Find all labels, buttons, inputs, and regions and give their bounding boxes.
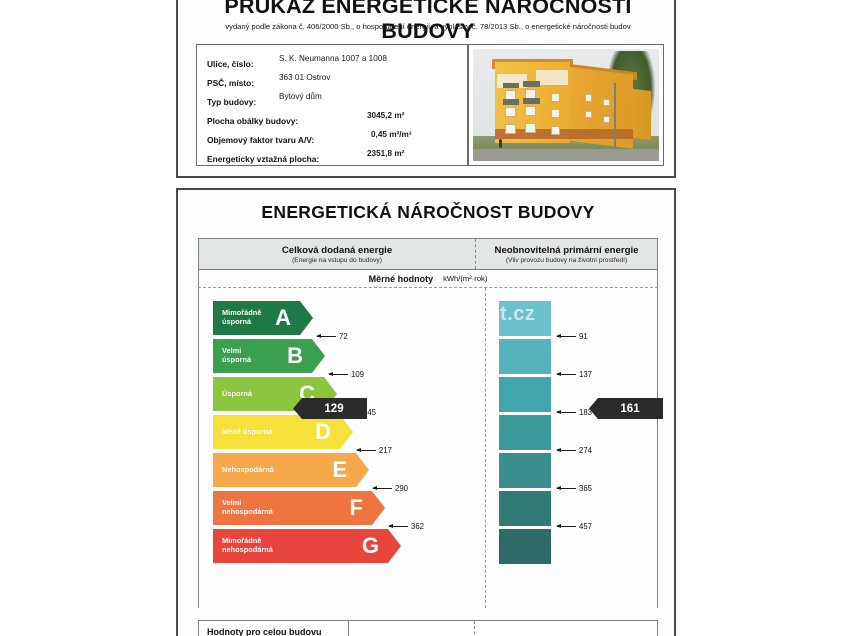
tick-arrow-icon [557, 488, 576, 489]
primary-band-c [499, 377, 551, 412]
photo-window [551, 126, 560, 135]
primary-band-g [499, 529, 551, 564]
photo-window [505, 124, 516, 134]
whole-building-values-primary [475, 621, 657, 636]
photo-window [551, 93, 560, 102]
photo-window [585, 94, 592, 102]
energy-performance-panel: ENERGETICKÁ NÁROČNOST BUDOVY Celková dod… [176, 188, 676, 636]
tick-arrow-icon [317, 336, 336, 337]
units-row: Měrné hodnoty kWh/(m²·rok) [198, 270, 658, 288]
energy-band-label: Velmi nehospodárná [222, 499, 273, 516]
detail-value: S. K. Neumanna 1007 a 1008 [279, 54, 387, 63]
column-header-delivered-energy: Celková dodaná energie (Energie na vstup… [199, 239, 475, 269]
tick-arrow-icon [373, 488, 392, 489]
energy-band-letter: A [275, 307, 291, 329]
tick-arrow-icon [557, 336, 576, 337]
building-details-table: Ulice, číslo: S. K. Neumanna 1007 a 1008… [196, 44, 468, 166]
detail-label: PSČ, místo: [207, 78, 254, 88]
column-header-primary-energy: Neobnovitelná primární energie (Vliv pro… [475, 239, 657, 269]
energy-column-headers: Celková dodaná energie (Energie na vstup… [198, 238, 658, 270]
primary-band-row-a: t.cz 91 [499, 300, 649, 338]
photo-road [473, 149, 659, 161]
photo-balcony [503, 99, 520, 105]
whole-building-values-delivered [349, 621, 475, 636]
units-value: kWh/(m²·rok) [443, 274, 487, 283]
units-label: Měrné hodnoty [369, 274, 434, 284]
photo-balcony [503, 83, 520, 89]
photo-plaster-patch [536, 70, 568, 85]
energy-band-label: Nehospodárná [222, 466, 274, 475]
building-photo [473, 49, 659, 161]
energy-band-label: Mimořádně úsporná [222, 309, 261, 326]
energy-band-letter: F [350, 497, 363, 519]
detail-row-building-type: Typ budovy: Bytový dům [207, 92, 467, 111]
document-page: PRŮKAZ ENERGETICKÉ NÁROČNOSTI BUDOVY vyd… [0, 0, 848, 636]
energy-band-d: Méně úsporná D [213, 415, 353, 449]
photo-window [603, 116, 610, 123]
primary-band-row-d: 274 [499, 414, 649, 452]
detail-label: Plocha obálky budovy: [207, 116, 298, 126]
primary-band-row-e: 365 [499, 452, 649, 490]
energy-band-label: Velmi úsporná [222, 347, 251, 364]
energy-band-row-f: Velmi nehospodárná F 362 [213, 490, 479, 528]
energy-band-a: Mimořádně úsporná A [213, 301, 313, 335]
tick-arrow-icon [557, 526, 576, 527]
detail-label: Energeticky vztažná plocha: [207, 154, 319, 164]
building-photo-frame [468, 44, 664, 166]
detail-value: 0,45 m²/m³ [371, 130, 412, 139]
photo-lamp-post [614, 83, 616, 148]
tick-arrow-icon [329, 374, 348, 375]
detail-value: 3045,2 m² [367, 111, 404, 120]
photo-window [551, 109, 560, 118]
tick-arrow-icon [357, 450, 376, 451]
energy-band-b: Velmi úsporná B [213, 339, 325, 373]
column-header-title: Neobnovitelná primární energie [495, 245, 639, 256]
detail-value: 363 01 Ostrov [279, 73, 330, 82]
energy-band-row-a: Mimořádně úsporná A 72 [213, 300, 479, 338]
energy-band-label: Úsporná [222, 390, 252, 399]
photo-balcony [523, 98, 540, 104]
energy-band-letter: D [315, 421, 331, 443]
energy-band-row-d: Méně úsporná D 217 [213, 414, 479, 452]
whole-building-values-row: Hodnoty pro celou budovu [198, 620, 658, 636]
chart-column-divider [485, 288, 486, 608]
energy-band-row-e: Nehospodárná E 290 [213, 452, 479, 490]
primary-band-a: t.cz [499, 301, 551, 336]
primary-band-f [499, 491, 551, 526]
primary-band-b [499, 339, 551, 374]
detail-row-street: Ulice, číslo: S. K. Neumanna 1007 a 1008 [207, 54, 467, 73]
detail-row-envelope-area: Plocha obálky budovy: 3045,2 m² [207, 111, 467, 130]
energy-band-e: Nehospodárná E [213, 453, 369, 487]
photo-window [603, 99, 610, 106]
photo-balcony [523, 81, 540, 87]
whole-building-values-label: Hodnoty pro celou budovu [199, 621, 349, 636]
energy-band-letter: G [362, 535, 379, 557]
energy-scale-chart: Mimořádně úsporná A 72 Velmi úsporná B [198, 288, 658, 608]
tick-arrow-icon [557, 450, 576, 451]
detail-label: Objemový faktor tvaru A/V: [207, 135, 314, 145]
energy-section-title: ENERGETICKÁ NÁROČNOST BUDOVY [178, 202, 678, 223]
photo-person [499, 139, 502, 148]
energy-band-row-g: Mimořádně nehospodárná G [213, 528, 479, 566]
detail-label: Typ budovy: [207, 97, 256, 107]
photo-window [525, 123, 536, 133]
primary-energy-indicator: 161 [589, 398, 663, 419]
energy-band-label: Mimořádně nehospodárná [222, 537, 273, 554]
primary-band-row-f: 457 [499, 490, 649, 528]
energy-band-g: Mimořádně nehospodárná G [213, 529, 401, 563]
primary-band-row-b: 137 [499, 338, 649, 376]
photo-window [525, 106, 536, 116]
tick-arrow-icon [557, 374, 576, 375]
photo-window [585, 111, 592, 119]
document-subtitle: vydaný podle zákona č. 406/2000 Sb., o h… [178, 22, 678, 31]
detail-row-shape-factor: Objemový faktor tvaru A/V: 0,45 m²/m³ [207, 130, 467, 149]
delivered-energy-scale: Mimořádně úsporná A 72 Velmi úsporná B [213, 300, 479, 566]
detail-value: Bytový dům [279, 92, 322, 101]
detail-row-reference-area: Energeticky vztažná plocha: 2351,8 m² [207, 149, 467, 168]
column-header-subtitle: (Energie na vstupu do budovy) [292, 257, 382, 264]
detail-label: Ulice, číslo: [207, 59, 254, 69]
photo-building-base [495, 129, 633, 139]
energy-band-f: Velmi nehospodárná F [213, 491, 385, 525]
primary-band-e [499, 453, 551, 488]
column-header-subtitle: (Vliv provozu budovy na životní prostřed… [506, 257, 627, 264]
detail-value: 2351,8 m² [367, 149, 404, 158]
energy-band-row-b: Velmi úsporná B 109 [213, 338, 479, 376]
tick-arrow-icon [557, 412, 576, 413]
watermark-text: t.cz [500, 303, 535, 326]
primary-band-row-g [499, 528, 649, 566]
energy-band-letter: E [332, 459, 347, 481]
delivered-energy-indicator: 129 [293, 398, 367, 419]
photo-window [505, 107, 516, 117]
column-header-title: Celková dodaná energie [282, 245, 392, 256]
primary-band-d [499, 415, 551, 450]
energy-band-label: Méně úsporná [222, 428, 272, 437]
detail-row-postcode: PSČ, místo: 363 01 Ostrov [207, 73, 467, 92]
tick-arrow-icon [389, 526, 408, 527]
primary-energy-scale: t.cz 91 137 [499, 300, 649, 566]
header-panel: PRŮKAZ ENERGETICKÉ NÁROČNOSTI BUDOVY vyd… [176, 0, 676, 178]
energy-band-letter: B [287, 345, 303, 367]
